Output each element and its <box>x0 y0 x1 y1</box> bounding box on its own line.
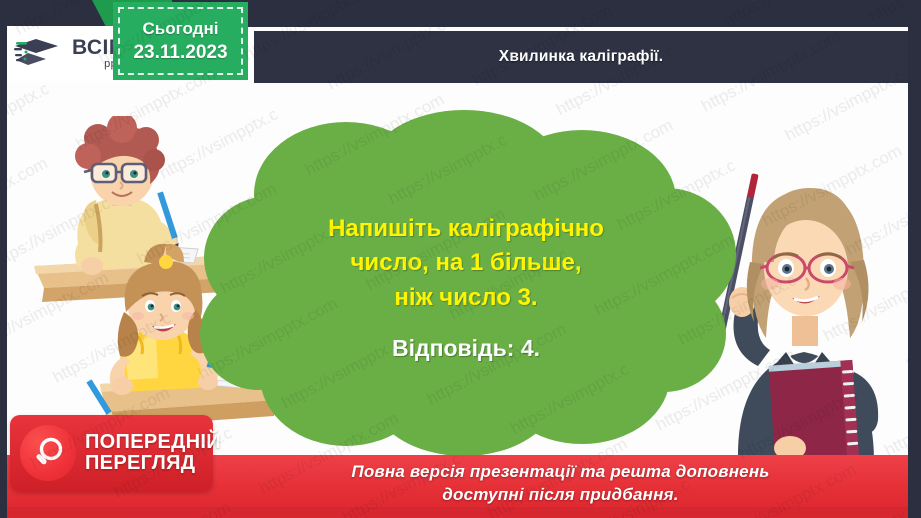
purchase-notice-line-1: Повна версія презентації та решта доповн… <box>351 461 769 484</box>
preview-icon-circle <box>20 425 76 481</box>
preview-label-line-2: ПЕРЕГЛЯД <box>85 453 221 474</box>
question-line-2: число, на 1 більше, <box>351 246 582 280</box>
question-line-1: Напишіть каліграфічно <box>328 212 604 246</box>
slide-header-bar: Хвилинка каліграфії. <box>254 31 908 83</box>
answer-text: Відповідь: 4. <box>392 335 540 362</box>
preview-badge-label: ПОПЕРЕДНІЙ ПЕРЕГЛЯД <box>85 432 221 474</box>
preview-badge: ПОПЕРЕДНІЙ ПЕРЕГЛЯД <box>10 415 213 491</box>
date-label: Сьогодні <box>143 19 219 39</box>
slide-canvas: ВСІМ pptx Сьогодні 23.11.2023 Хвилинка к… <box>0 0 921 518</box>
speech-cloud: Напишіть каліграфічно число, на 1 більше… <box>196 108 736 456</box>
preview-label-line-1: ПОПЕРЕДНІЙ <box>85 432 221 453</box>
page-title: Хвилинка каліграфії. <box>499 48 663 66</box>
right-frame-strip <box>908 0 921 518</box>
question-line-3: ніж число 3. <box>394 281 537 315</box>
left-frame-strip <box>0 0 7 518</box>
purchase-notice-text: Повна версія презентації та решта доповн… <box>151 461 769 513</box>
magnifier-icon <box>31 436 65 470</box>
cloud-text-block: Напишіть каліграфічно число, на 1 більше… <box>196 108 736 456</box>
date-value: 23.11.2023 <box>133 42 227 64</box>
purchase-notice-line-2: доступні після придбання. <box>351 484 769 507</box>
graduation-cap-icon <box>14 35 70 73</box>
today-date-badge: Сьогодні 23.11.2023 <box>113 2 248 80</box>
